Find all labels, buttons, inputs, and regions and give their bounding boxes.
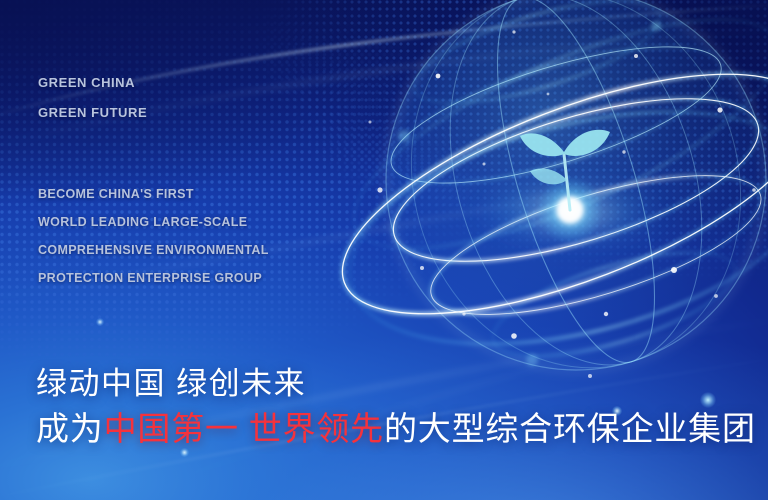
- headline-emphasis: 中国第一 世界领先: [104, 410, 384, 447]
- mission-line-1: BECOME CHINA'S FIRST: [38, 180, 269, 208]
- headline-suffix: 的大型综合环保企业集团: [384, 410, 756, 447]
- mission-line-4: PROTECTION ENTERPRISE GROUP: [38, 264, 269, 292]
- mission-statement-block: BECOME CHINA'S FIRST WORLD LEADING LARGE…: [38, 180, 269, 292]
- bokeh-dot: [96, 318, 104, 326]
- headline-prefix: 成为: [36, 410, 104, 447]
- wireframe-globe-graphic: [318, 0, 768, 404]
- mission-line-2: WORLD LEADING LARGE-SCALE: [38, 208, 269, 236]
- headline-line-2: 成为中国第一 世界领先的大型综合环保企业集团: [36, 406, 756, 452]
- tagline-line-2: GREEN FUTURE: [38, 98, 147, 128]
- headline-block: 绿动中国 绿创未来 成为中国第一 世界领先的大型综合环保企业集团: [36, 362, 756, 452]
- headline-line-1: 绿动中国 绿创未来: [36, 362, 756, 406]
- mission-line-3: COMPREHENSIVE ENVIRONMENTAL: [38, 236, 269, 264]
- tagline-line-1: GREEN CHINA: [38, 68, 147, 98]
- tagline-block: GREEN CHINA GREEN FUTURE: [38, 68, 147, 128]
- promo-banner: GREEN CHINA GREEN FUTURE BECOME CHINA'S …: [0, 0, 768, 500]
